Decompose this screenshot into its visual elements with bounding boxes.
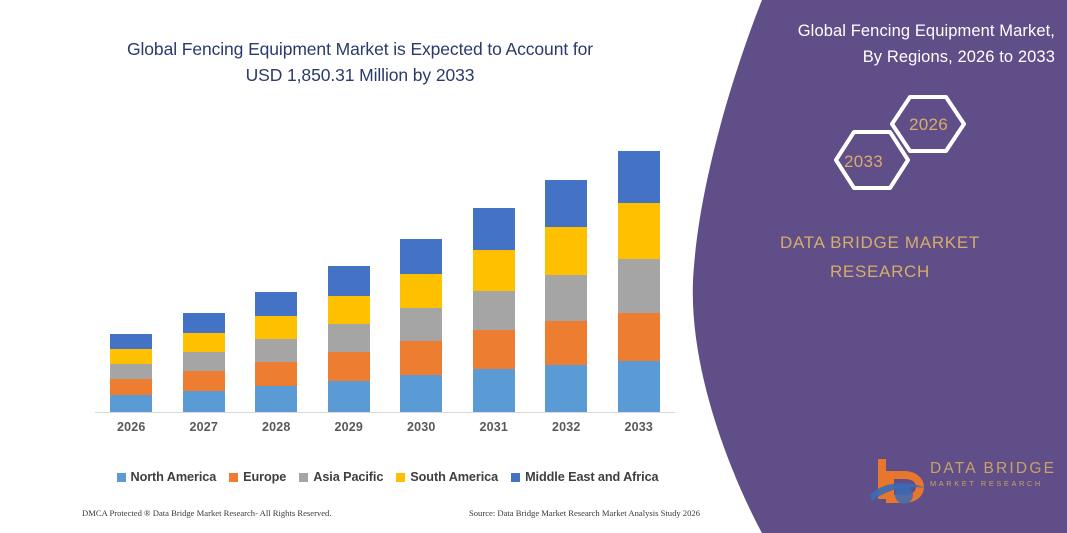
stacked-bar (473, 208, 515, 413)
x-axis-labels: 20262027202820292030203120322033 (95, 420, 675, 444)
stacked-bar (400, 239, 442, 413)
plot-area (95, 128, 675, 413)
panel-title-line2: By Regions, 2026 to 2033 (725, 44, 1055, 70)
bar-segment (473, 291, 515, 330)
bar-segment (473, 369, 515, 413)
chart-title-line1: Global Fencing Equipment Market is Expec… (127, 39, 593, 59)
bar-segment (328, 381, 370, 413)
stacked-bar (618, 151, 660, 413)
footer-source: Source: Data Bridge Market Research Mark… (469, 508, 700, 518)
brand-name: DATA BRIDGE MARKET RESEARCH (730, 228, 1030, 286)
logo-line1: DATA BRIDGE (930, 460, 1058, 478)
bar-group-2026 (95, 128, 168, 413)
legend-swatch-icon (396, 473, 405, 482)
stacked-bar (183, 313, 225, 413)
legend-item[interactable]: Asia Pacific (299, 470, 383, 484)
hexagon-outlines (808, 94, 1008, 209)
legend-label: Asia Pacific (313, 470, 383, 484)
legend-label: Middle East and Africa (525, 470, 658, 484)
x-axis-line (95, 412, 675, 413)
brand-line1: DATA BRIDGE MARKET (780, 233, 980, 252)
bar-segment (400, 274, 442, 308)
bar-segment (618, 151, 660, 203)
stacked-bar (255, 292, 297, 413)
x-axis-label-2027: 2027 (168, 420, 241, 434)
bar-group-2033 (603, 128, 676, 413)
logo-line2: MARKET RESEARCH (930, 478, 1058, 490)
stacked-bar (545, 180, 587, 413)
stacked-bar (328, 266, 370, 413)
x-axis-label-2026: 2026 (95, 420, 168, 434)
legend-label: North America (131, 470, 217, 484)
chart-legend: North AmericaEuropeAsia PacificSouth Ame… (95, 470, 680, 484)
bar-segment (183, 391, 225, 413)
bar-segment (545, 365, 587, 413)
bar-segment (400, 341, 442, 375)
legend-label: South America (410, 470, 498, 484)
bar-segment (473, 208, 515, 250)
stacked-bar (110, 334, 152, 413)
bar-segment (545, 180, 587, 227)
bar-segment (400, 308, 442, 341)
legend-label: Europe (243, 470, 286, 484)
bar-segment (255, 292, 297, 316)
legend-item[interactable]: South America (396, 470, 498, 484)
chart-title-line2: USD 1,850.31 Million by 2033 (60, 62, 660, 88)
bar-segment (183, 313, 225, 333)
bar-segment (328, 296, 370, 324)
legend-swatch-icon (299, 473, 308, 482)
bar-segment (400, 239, 442, 274)
bar-group-2031 (458, 128, 531, 413)
bar-segment (545, 227, 587, 275)
legend-swatch-icon (117, 473, 126, 482)
x-axis-label-2029: 2029 (313, 420, 386, 434)
infographic-root: Global Fencing Equipment Market is Expec… (0, 0, 1067, 533)
bar-segment (110, 364, 152, 379)
x-axis-label-2030: 2030 (385, 420, 458, 434)
legend-item[interactable]: North America (117, 470, 217, 484)
bar-segment (183, 352, 225, 371)
bar-segment (618, 313, 660, 361)
bridge-logo-icon (870, 455, 928, 507)
bar-segment (618, 203, 660, 259)
bar-segment (545, 321, 587, 365)
legend-swatch-icon (229, 473, 238, 482)
chart-panel: Global Fencing Equipment Market is Expec… (0, 0, 700, 533)
bar-segment (110, 379, 152, 395)
bar-segment (255, 316, 297, 339)
bar-segment (328, 266, 370, 296)
legend-swatch-icon (511, 473, 520, 482)
bar-group-2027 (168, 128, 241, 413)
panel-title: Global Fencing Equipment Market, By Regi… (725, 18, 1055, 70)
brand-line2: RESEARCH (730, 257, 1030, 286)
bar-segment (110, 349, 152, 364)
hexagon-2026-label: 2026 (909, 115, 948, 135)
bar-segment (545, 275, 587, 321)
bar-segment (255, 362, 297, 386)
bar-group-2028 (240, 128, 313, 413)
bar-segment (473, 330, 515, 369)
x-axis-label-2032: 2032 (530, 420, 603, 434)
panel-title-line1: Global Fencing Equipment Market, (798, 22, 1055, 40)
company-logo: DATA BRIDGE MARKET RESEARCH (870, 452, 1055, 510)
logo-wordmark: DATA BRIDGE MARKET RESEARCH (930, 460, 1058, 490)
bar-segment (618, 361, 660, 413)
x-axis-label-2033: 2033 (603, 420, 676, 434)
bar-segment (400, 375, 442, 413)
bar-group-2030 (385, 128, 458, 413)
x-axis-label-2031: 2031 (458, 420, 531, 434)
bar-group-2032 (530, 128, 603, 413)
hexagon-2033-label: 2033 (844, 152, 883, 172)
legend-item[interactable]: Europe (229, 470, 286, 484)
legend-item[interactable]: Middle East and Africa (511, 470, 658, 484)
bar-segment (110, 395, 152, 413)
bar-segment (255, 386, 297, 413)
footer: DMCA Protected ® Data Bridge Market Rese… (60, 508, 700, 518)
bar-group-2029 (313, 128, 386, 413)
bar-segment (328, 352, 370, 381)
bar-segment (183, 333, 225, 352)
hexagon-group: 2026 2033 (808, 94, 1008, 209)
bar-segment (255, 339, 297, 362)
chart-title: Global Fencing Equipment Market is Expec… (60, 36, 660, 88)
brand-panel: Global Fencing Equipment Market, By Regi… (690, 0, 1067, 533)
x-axis-label-2028: 2028 (240, 420, 313, 434)
bar-segment (328, 324, 370, 352)
footer-copyright: DMCA Protected ® Data Bridge Market Rese… (60, 508, 332, 518)
bar-segment (618, 259, 660, 313)
bar-segment (110, 334, 152, 349)
bar-segment (183, 371, 225, 391)
bar-segment (473, 250, 515, 291)
